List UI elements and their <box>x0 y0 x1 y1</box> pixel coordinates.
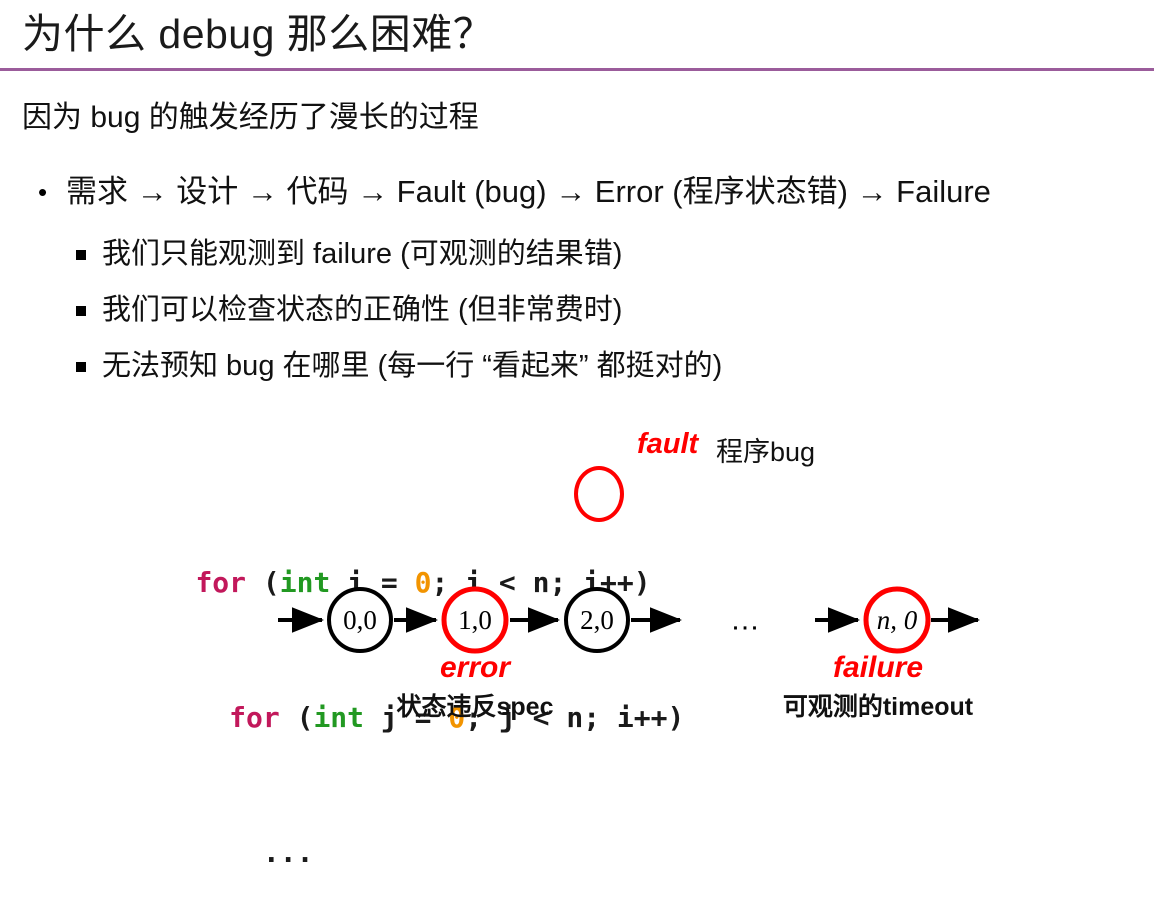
bullet-level1-text: 需求 → 设计 → 代码 → Fault (bug) → Error (程序状态… <box>66 170 991 214</box>
code-punct: ( <box>280 701 314 734</box>
annotation-fault-chinese: 程序bug <box>716 430 815 469</box>
code-indent <box>195 701 229 734</box>
state-node-2-label: 2,0 <box>580 605 614 635</box>
bullet-level1: • 需求 → 设计 → 代码 → Fault (bug) → Error (程序… <box>38 170 1138 214</box>
list-item: 无法预知 bug 在哪里 (每一行 “看起来” 都挺对的) <box>76 345 1136 387</box>
code-ellipsis: ... <box>195 836 313 869</box>
code-keyword-for: for <box>195 566 246 599</box>
state-node-1-label: 1,0 <box>458 605 492 635</box>
code-keyword-for: for <box>229 701 280 734</box>
state-node-n-label: n, 0 <box>877 605 918 635</box>
list-item: 我们可以检查状态的正确性 (但非常费时) <box>76 289 1136 331</box>
diagram-ellipsis: … <box>730 604 760 637</box>
caption-failure-keyword: failure <box>748 650 1008 686</box>
state-node-0-label: 0,0 <box>343 605 377 635</box>
bug-highlight-circle <box>574 466 624 522</box>
page-title: 为什么 debug 那么困难？ <box>22 4 494 64</box>
title-divider <box>0 68 1154 71</box>
list-item: 我们只能观测到 failure (可观测的结果错) <box>76 233 1136 275</box>
bullet-level2-text: 无法预知 bug 在哪里 (每一行 “看起来” 都挺对的) <box>102 345 722 387</box>
bullet-dot-icon: • <box>38 170 66 214</box>
code-line-3: ... <box>128 785 684 830</box>
caption-failure-chinese: 可观测的timeout <box>748 690 1008 724</box>
bullet-list-level2: 我们只能观测到 failure (可观测的结果错) 我们可以检查状态的正确性 (… <box>76 233 1136 401</box>
caption-error-chinese: 状态违反spec <box>345 690 605 724</box>
caption-error-keyword: error <box>345 650 605 686</box>
caption-error: error 状态违反spec <box>345 650 605 724</box>
bullet-level2-text: 我们只能观测到 failure (可观测的结果错) <box>102 233 622 275</box>
bullet-level2-text: 我们可以检查状态的正确性 (但非常费时) <box>102 289 622 331</box>
caption-failure: failure 可观测的timeout <box>748 650 1008 724</box>
annotation-fault: fault <box>637 428 698 461</box>
subtitle-text: 因为 bug 的触发经历了漫长的过程 <box>22 98 479 138</box>
